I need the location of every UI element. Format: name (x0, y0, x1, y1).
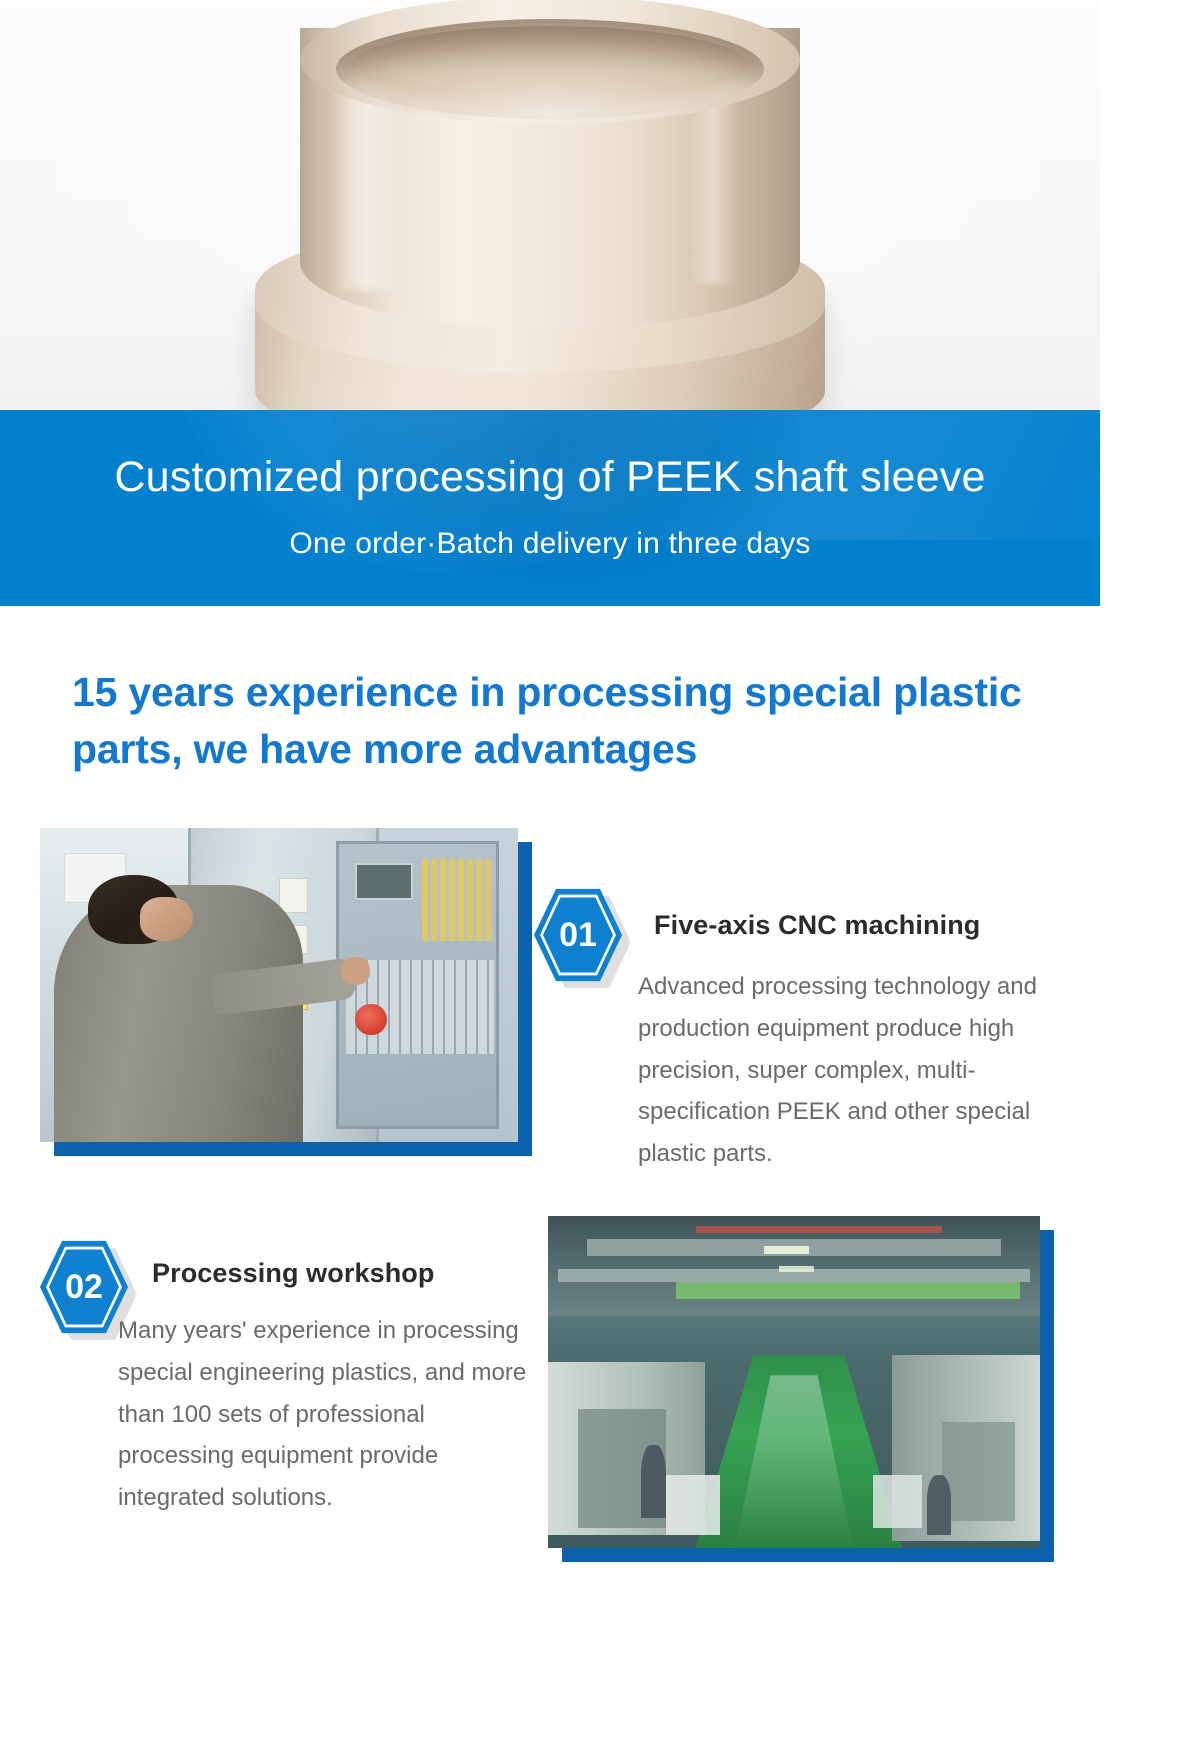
feature-01-title: Five-axis CNC machining (654, 910, 980, 941)
feature-02-number: 02 (40, 1239, 128, 1335)
banner-text-block: Customized processing of PEEK shaft slee… (0, 454, 1100, 561)
workshop-scene (548, 1216, 1040, 1548)
workshop-worker-right (927, 1475, 952, 1535)
feature-02-number-badge: 02 (40, 1239, 128, 1335)
cnc-machine-scene (40, 828, 518, 1142)
banner-subtitle: One order·Batch delivery in three days (0, 527, 1100, 561)
feature-02-photo (548, 1216, 1040, 1548)
hero-product-photo (0, 0, 1100, 466)
warning-sticker-1 (279, 878, 308, 913)
product-detail-page: Customized processing of PEEK shaft slee… (0, 0, 1200, 1760)
material-cart-left (666, 1475, 720, 1535)
hero-banner: Customized processing of PEEK shaft slee… (0, 410, 1100, 606)
feature-02-title: Processing workshop (152, 1258, 434, 1289)
ceiling-lamp-1 (764, 1246, 808, 1254)
worker-hand (341, 957, 370, 985)
section-headline: 15 years experience in processing specia… (72, 664, 1062, 777)
emergency-stop-button (355, 1004, 386, 1035)
ceiling-lamp-2 (779, 1266, 813, 1273)
product-bore-shadow (352, 26, 748, 104)
feature-01-photo-frame (40, 828, 518, 1142)
feature-01-photo (40, 828, 518, 1142)
cnc-keypad-top (422, 859, 494, 941)
feature-01-body: Advanced processing technology and produ… (638, 966, 1068, 1175)
feature-01-number: 01 (534, 887, 622, 983)
cnc-display-screen (355, 863, 412, 901)
workshop-worker-left (641, 1445, 666, 1518)
machine-right-detail (942, 1422, 1016, 1522)
feature-02-body: Many years' experience in processing spe… (118, 1310, 528, 1519)
ceiling-green-panel (676, 1282, 1020, 1299)
banner-title: Customized processing of PEEK shaft slee… (0, 454, 1100, 501)
feature-01-number-badge: 01 (534, 887, 622, 983)
ceiling-red-pipe (696, 1226, 942, 1233)
feature-02-photo-frame (548, 1216, 1040, 1548)
material-cart-right (873, 1475, 922, 1528)
